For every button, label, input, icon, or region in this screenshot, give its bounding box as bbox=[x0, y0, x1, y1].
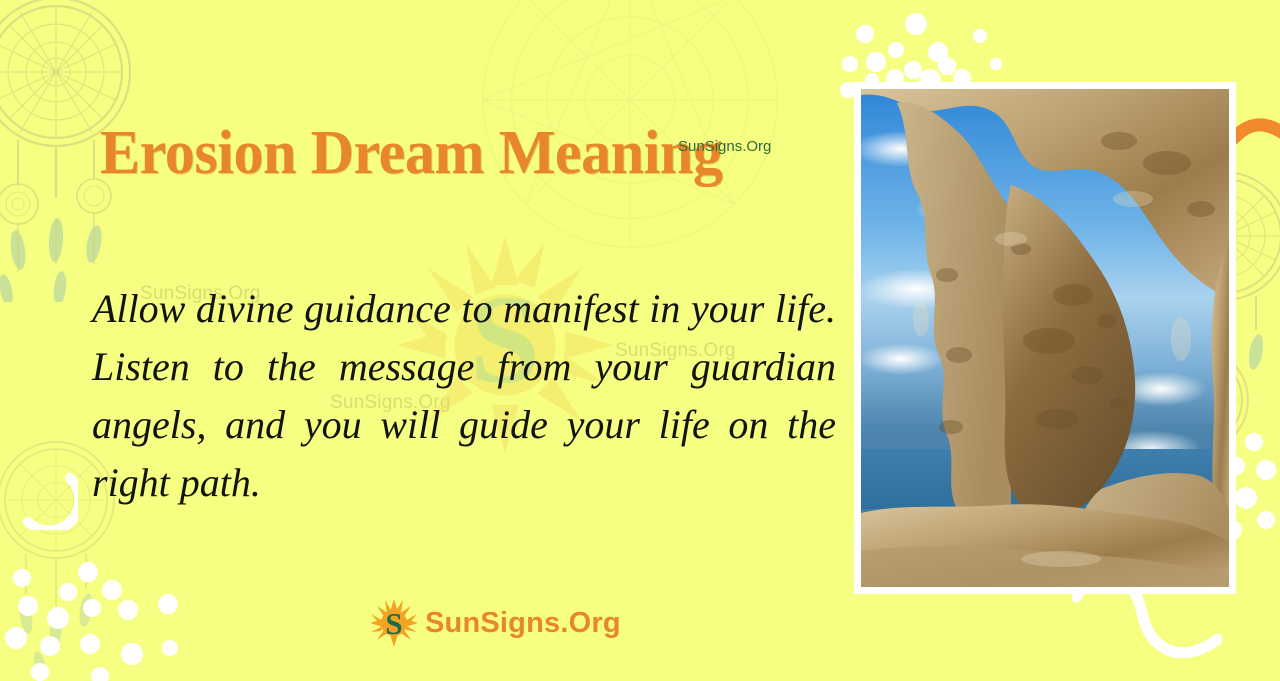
erosion-rock-photo bbox=[861, 89, 1229, 587]
poster-canvas: S bbox=[0, 0, 1280, 681]
white-dots-icon bbox=[0, 560, 230, 681]
rock-formation-shape bbox=[861, 89, 1229, 587]
title-credit-label: SunSigns.Org bbox=[678, 138, 771, 155]
footer-brand-label: SunSigns.Org bbox=[425, 609, 621, 638]
photo-frame bbox=[854, 82, 1236, 594]
page-title: Erosion Dream Meaning bbox=[100, 122, 722, 184]
sun-s-logo-icon: S bbox=[369, 598, 419, 648]
footer-brand-logo[interactable]: S SunSigns.Org bbox=[369, 598, 621, 648]
quote-text: Allow divine guidance to manifest in you… bbox=[92, 280, 836, 512]
svg-text:S: S bbox=[385, 606, 402, 641]
white-arc-icon bbox=[8, 470, 78, 530]
